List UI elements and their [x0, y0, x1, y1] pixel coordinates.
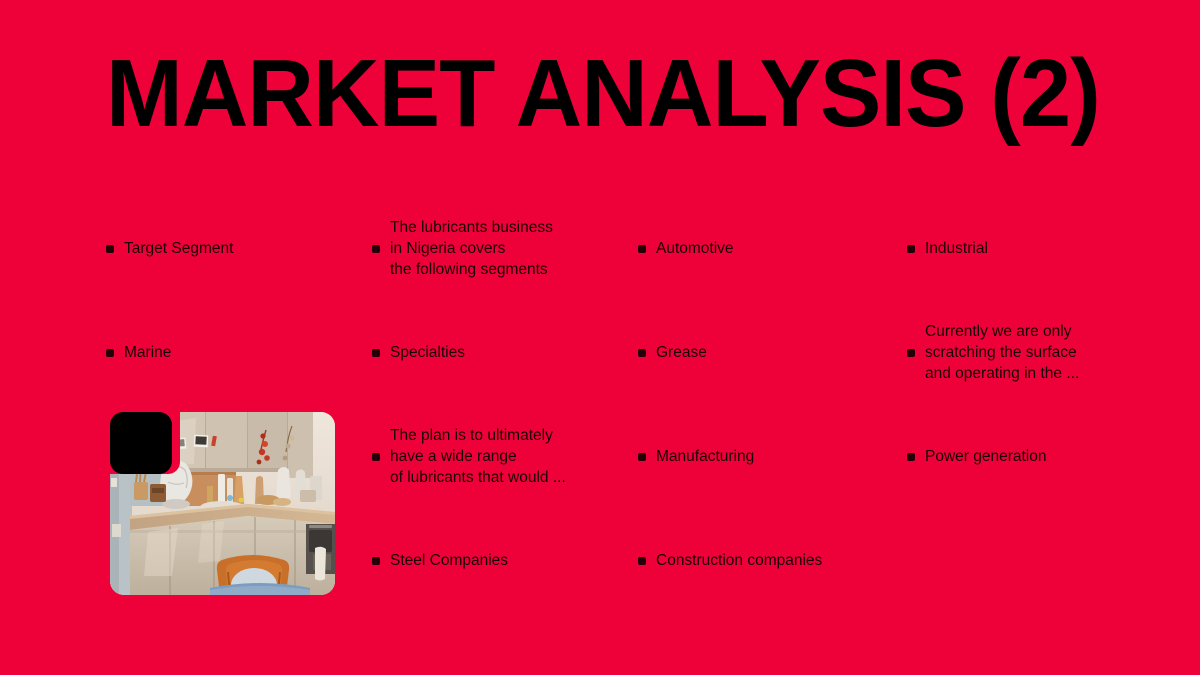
list-item-label: The plan is to ultimately have a wide ra… — [390, 425, 566, 488]
list-item[interactable]: Power generation — [907, 404, 1163, 508]
list-item-label: Specialties — [390, 342, 465, 363]
list-item-label: Industrial — [925, 238, 988, 259]
list-item-label: Manufacturing — [656, 446, 754, 467]
bullet-icon — [638, 453, 646, 461]
list-item[interactable]: Grease — [638, 300, 900, 404]
list-item-label: The lubricants business in Nigeria cover… — [390, 217, 553, 280]
list-item[interactable]: Construction companies — [638, 508, 900, 612]
list-item-label: Automotive — [656, 238, 734, 259]
bullet-icon — [907, 245, 915, 253]
slide: MARKET ANALYSIS (2) Target Segment The l… — [0, 0, 1200, 675]
list-item[interactable]: Automotive — [638, 196, 900, 300]
list-item-label: Marine — [124, 342, 171, 363]
list-item-label: Grease — [656, 342, 707, 363]
bullet-icon — [106, 349, 114, 357]
list-item[interactable]: Specialties — [372, 300, 632, 404]
bullet-icon — [372, 453, 380, 461]
list-item-empty — [907, 508, 1163, 612]
bullet-icon — [907, 349, 915, 357]
page-title: MARKET ANALYSIS (2) — [106, 44, 1104, 144]
list-item[interactable]: The lubricants business in Nigeria cover… — [372, 196, 632, 300]
list-item-label: Power generation — [925, 446, 1047, 467]
table-row: Target Segment The lubricants business i… — [0, 196, 1200, 300]
list-item[interactable]: Industrial — [907, 196, 1163, 300]
list-item-label: Target Segment — [124, 238, 233, 259]
bullet-icon — [907, 453, 915, 461]
bullet-icon — [372, 349, 380, 357]
bullet-icon — [106, 245, 114, 253]
list-item[interactable]: Steel Companies — [372, 508, 632, 612]
bullet-icon — [372, 245, 380, 253]
list-item-label: Construction companies — [656, 550, 822, 571]
list-item[interactable]: Marine — [106, 300, 356, 404]
list-item[interactable]: Currently we are only scratching the sur… — [907, 300, 1163, 404]
bullet-icon — [638, 349, 646, 357]
bullet-icon — [638, 557, 646, 565]
bullet-icon — [638, 245, 646, 253]
bullet-icon — [372, 557, 380, 565]
list-item[interactable]: Manufacturing — [638, 404, 900, 508]
photo-collage — [110, 412, 335, 595]
black-tile-overlay — [110, 412, 172, 474]
list-item-label: Currently we are only scratching the sur… — [925, 321, 1079, 384]
list-item[interactable]: Target Segment — [106, 196, 356, 300]
table-row: Marine Specialties Grease Currently we a… — [0, 300, 1200, 404]
list-item-label: Steel Companies — [390, 550, 508, 571]
list-item[interactable]: The plan is to ultimately have a wide ra… — [372, 404, 632, 508]
